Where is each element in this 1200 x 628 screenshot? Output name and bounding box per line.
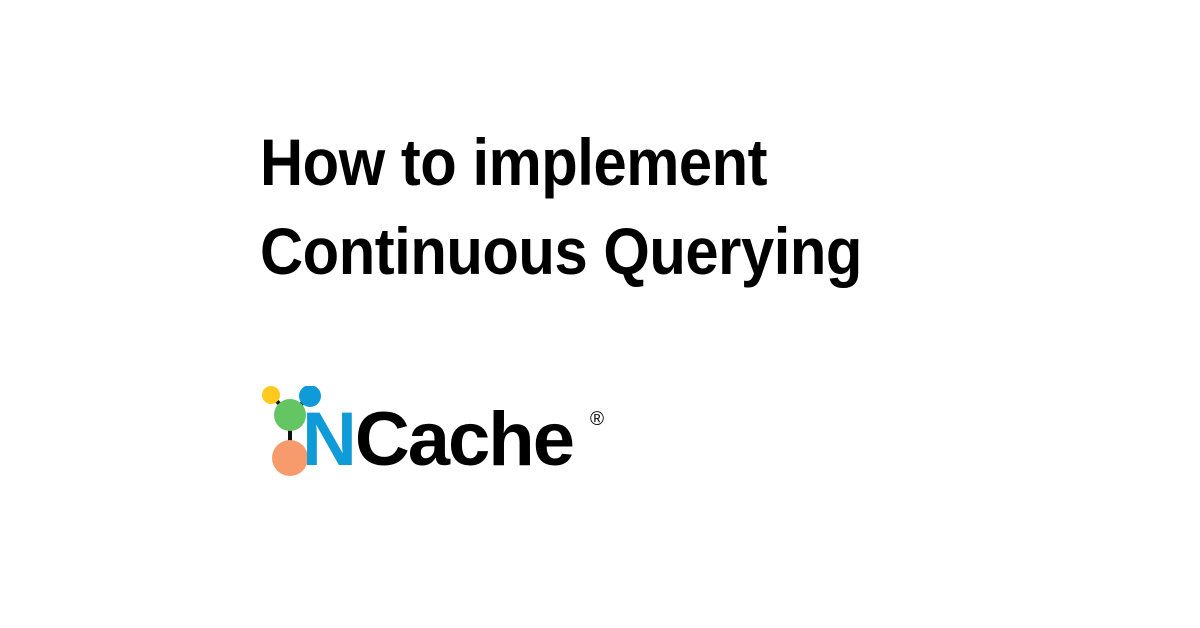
ncache-wordmark: NCache ® (302, 402, 573, 474)
wordmark-rest: Cache (355, 397, 573, 482)
ncache-logo: NCache ® (260, 386, 580, 478)
page-title: How to implement Continuous Querying (260, 118, 980, 296)
og-share-card: How to implement Continuous Querying NCa… (0, 0, 1200, 628)
yellow-node-icon (262, 386, 280, 404)
page-title-line-1: How to implement (260, 118, 912, 207)
page-title-line-2: Continuous Querying (260, 207, 912, 296)
wordmark-initial: N (302, 397, 355, 482)
registered-trademark-icon: ® (590, 410, 604, 429)
